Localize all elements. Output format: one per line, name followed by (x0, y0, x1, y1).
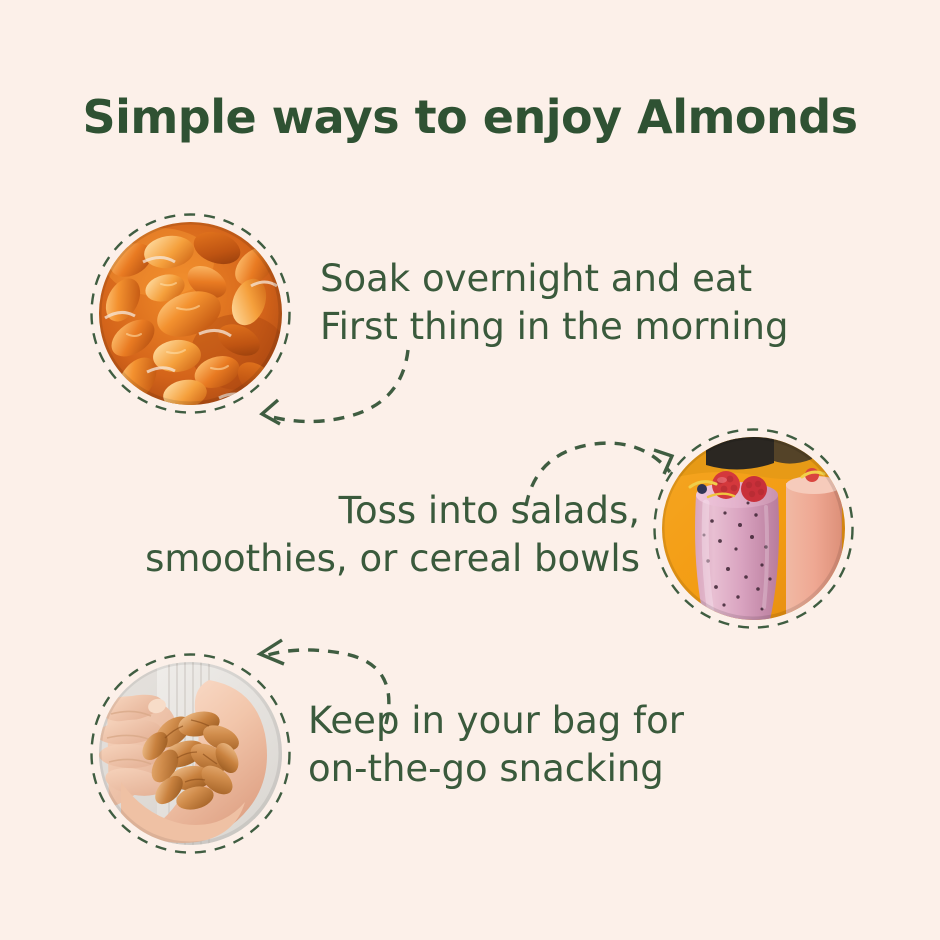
tip-text-soak-overnight: Soak overnight and eat First thing in th… (320, 255, 788, 351)
almond-infographic: Simple ways to enjoy Almonds (0, 0, 940, 940)
tip-3-line-2: on-the-go snacking (308, 745, 684, 793)
tip-1-line-2: First thing in the morning (320, 303, 788, 351)
tip-text-toss-into-salads: Toss into salads, smoothies, or cereal b… (140, 487, 640, 583)
tip-3-line-1: Keep in your bag for (308, 697, 684, 745)
page-title: Simple ways to enjoy Almonds (0, 90, 940, 144)
tip-text-on-the-go-snacking: Keep in your bag for on-the-go snacking (308, 697, 684, 793)
tip-1-line-1: Soak overnight and eat (320, 255, 788, 303)
berry-smoothie-photo (662, 437, 845, 620)
tip-2-line-2: smoothies, or cereal bowls (140, 535, 640, 583)
soaked-almonds-photo (99, 222, 282, 405)
tip-2-line-1: Toss into salads, (140, 487, 640, 535)
handful-of-almonds-photo (99, 662, 282, 845)
arrow-to-soaked-almonds (240, 340, 460, 450)
